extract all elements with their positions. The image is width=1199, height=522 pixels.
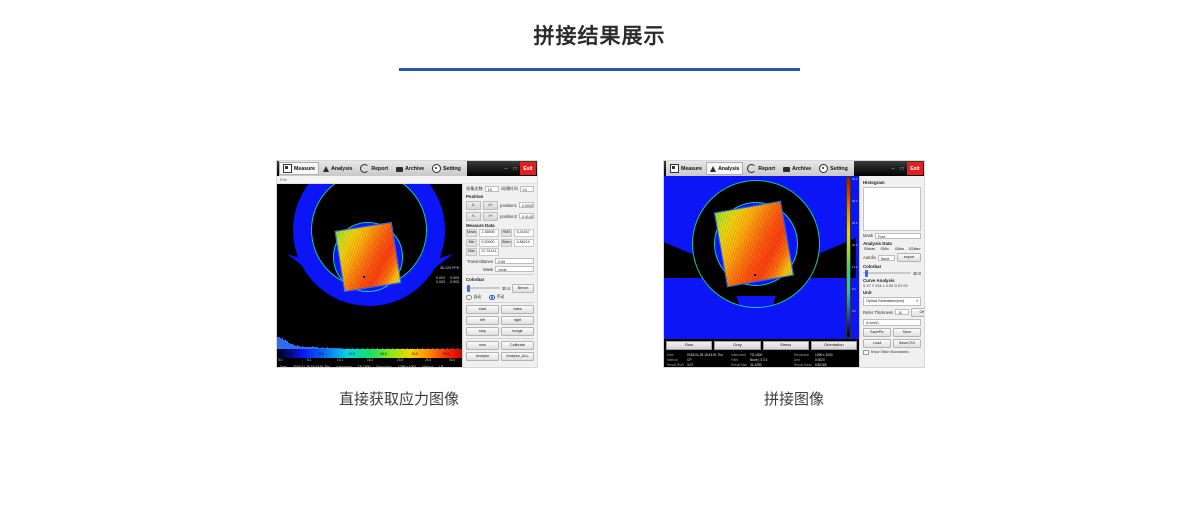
fps-value: 36.129 FPS bbox=[440, 266, 459, 270]
divider-2 bbox=[466, 302, 534, 303]
minimize-button-2[interactable]: – bbox=[889, 163, 897, 175]
cb-tick-0: 0.0 bbox=[289, 352, 294, 356]
action-button-row-1: new Calibrate bbox=[466, 341, 534, 350]
measure-data-section-title: Measure Data bbox=[466, 223, 534, 228]
specimen-marker-2 bbox=[754, 274, 756, 276]
transmittance-row: Transmittance 0.65 bbox=[466, 258, 534, 264]
radio-manual-label: 手动 bbox=[497, 295, 505, 300]
menu-item-analysis-label-2: Analysis bbox=[718, 166, 739, 172]
gear-icon bbox=[819, 164, 828, 173]
close-button-2[interactable]: Exit bbox=[907, 162, 923, 175]
y-minus-button[interactable]: Y- bbox=[466, 212, 481, 221]
colorbar-axis: 0.0 5.1 10.1 15.2 20.3 25.3 30.4 bbox=[277, 358, 462, 363]
menu-item-report[interactable]: Report bbox=[356, 162, 392, 175]
new-button[interactable]: new bbox=[466, 341, 499, 350]
info-k-7: Result Max bbox=[731, 363, 747, 367]
page-heading: 拼接结果展示 bbox=[0, 26, 1199, 47]
status-k-0: Date bbox=[280, 365, 287, 369]
cb-axis-2: 10.1 bbox=[337, 358, 343, 362]
cb-tick-1: 6.0 bbox=[319, 352, 324, 356]
divider-3 bbox=[466, 338, 534, 339]
info-v-2: 1296 x 1000 bbox=[815, 353, 856, 357]
info-v-1: TS-1000 bbox=[750, 353, 791, 357]
unit-select[interactable]: Optical Retardation(nm) bbox=[863, 297, 921, 306]
colorbar-slider[interactable] bbox=[466, 287, 500, 289]
savepic-button[interactable]: SavePic bbox=[863, 328, 891, 337]
fps-readout: 36.129 FPS bbox=[440, 266, 459, 270]
menu-item-archive-2[interactable]: Archive bbox=[779, 162, 815, 175]
savecsv-button[interactable]: SaveCSV bbox=[893, 339, 921, 348]
position1-label: position1 bbox=[500, 203, 517, 208]
position-row-1: X- X+ position1 0.00001 bbox=[466, 201, 534, 210]
page-title: 拼接结果展示 bbox=[0, 26, 1199, 47]
cb-axis-6: 30.4 bbox=[449, 358, 455, 362]
cb-tick-3: 18.0 bbox=[380, 352, 387, 356]
figure-stitched-image: Measure Analysis Report Archive Setting bbox=[663, 160, 925, 368]
position-section-title: Position bbox=[466, 194, 534, 199]
info-v-3: CP bbox=[687, 358, 728, 362]
status-k-3: Method bbox=[422, 365, 433, 369]
coord-r2c2: 0.003 bbox=[450, 280, 459, 284]
radio-auto[interactable]: 自动 bbox=[466, 295, 481, 301]
rms-key: RMS bbox=[501, 229, 512, 237]
y-plus-button[interactable]: Y+ bbox=[483, 212, 498, 221]
menu-item-analysis[interactable]: Analysis bbox=[319, 162, 356, 175]
status-k-2: Resolution bbox=[376, 365, 392, 369]
radio-auto-dot bbox=[466, 295, 472, 301]
control-panel: 采集次数 15 间隔时间 10 Position X- X+ position1… bbox=[462, 184, 537, 368]
info-k-8: Result Mean bbox=[794, 363, 812, 367]
vertical-colorbar: 40.0 33.3 26.6 20.0 13.3 6.6 0.0 bbox=[846, 177, 858, 338]
transmittance-input[interactable]: 0.65 bbox=[495, 258, 534, 264]
menu-item-measure-label-2: Measure bbox=[681, 166, 702, 172]
subbar: Exit bbox=[277, 176, 537, 184]
unit-section-title: Unit bbox=[863, 290, 921, 295]
info-k-3: Method bbox=[667, 358, 684, 362]
menu-item-measure-2[interactable]: Measure bbox=[666, 162, 706, 175]
position1-input[interactable]: 0.00001 bbox=[519, 202, 534, 208]
stitched-image-canvas[interactable]: 40.0 33.3 26.6 20.0 13.3 6.6 0.0 bbox=[664, 176, 859, 339]
autofix-row: Autofix None export bbox=[863, 253, 921, 262]
info-k-1: Instrument bbox=[731, 353, 747, 357]
tag-gstdev: GStdev bbox=[908, 247, 921, 251]
view-tabs: Raw Gray Stress Orientation bbox=[664, 339, 859, 351]
capture-count-label: 采集次数 bbox=[466, 186, 483, 192]
stress-image-canvas[interactable]: 36.129 FPS 0.003 0.003 0.003 0.003 bbox=[277, 184, 462, 337]
status-v-1: TS-1000 bbox=[358, 365, 371, 369]
curve-analysis-section-title: Curve Analysis bbox=[863, 278, 921, 283]
mask-select[interactable]: circle bbox=[495, 266, 534, 272]
viewer-column-2: 40.0 33.3 26.6 20.0 13.3 6.6 0.0 Raw Gra… bbox=[664, 176, 859, 368]
histogram-plot[interactable] bbox=[863, 187, 921, 231]
heading-underline bbox=[399, 68, 800, 71]
folder-icon bbox=[783, 167, 790, 172]
info-v-7: 31.4290 bbox=[750, 363, 791, 367]
colorbar-slider-row-2: 40.0 bbox=[863, 271, 921, 276]
vertical-colorbar-ticks: 40.0 33.3 26.6 20.0 13.3 6.6 0.0 bbox=[851, 177, 858, 338]
radio-manual[interactable]: 手动 bbox=[489, 295, 504, 301]
colorbar-section-title: Colorbar bbox=[466, 277, 534, 282]
menu-item-measure-label: Measure bbox=[294, 166, 315, 172]
colorbar-value-2: 40.0 bbox=[913, 271, 921, 276]
app-window-measure: Measure Analysis Report Archive Setting bbox=[276, 160, 538, 368]
specimen-region bbox=[335, 222, 402, 292]
colorbar-slider-row: 30.4 Bench bbox=[466, 284, 534, 293]
camera-icon bbox=[670, 164, 679, 173]
vbar-tick-2: 26.6 bbox=[852, 221, 857, 225]
refer-thickness-row: Refer Thickness 10 OK bbox=[863, 308, 921, 317]
refer-thickness-input[interactable]: 10 bbox=[895, 309, 909, 315]
menu-item-setting-label: Setting bbox=[443, 166, 461, 172]
checkbox-box bbox=[863, 350, 869, 356]
mask-label-2: Mask bbox=[863, 233, 873, 238]
mode-radio-group: 自动 手动 bbox=[466, 295, 534, 301]
save-path-input[interactable]: d:\res01 bbox=[863, 319, 921, 326]
cb-axis-1: 5.1 bbox=[307, 358, 311, 362]
load-button[interactable]: Load bbox=[863, 339, 891, 348]
histogram-bars bbox=[277, 337, 462, 349]
image-button[interactable]: image bbox=[501, 327, 534, 336]
window-body-2: 40.0 33.3 26.6 20.0 13.3 6.6 0.0 Raw Gra… bbox=[664, 176, 924, 368]
stdev-key: Stdev bbox=[501, 239, 512, 247]
measure-data-grid: Mean 2.36506 RMS 5.41547 Min 0.30000 Std… bbox=[466, 229, 534, 256]
analyse-button[interactable]: Analyse bbox=[466, 352, 499, 361]
status-k-1: Instrument bbox=[336, 365, 352, 369]
moon-icon bbox=[747, 164, 756, 173]
coord-r2c1: 0.003 bbox=[436, 280, 445, 284]
analysis-tags: GMean GMin GMax GStdev bbox=[863, 247, 921, 251]
file-button-row-1: SavePic Save bbox=[863, 328, 921, 337]
colorbar-ticks: 0.0 6.0 12.0 18.0 24.0 30.0 bbox=[277, 349, 462, 358]
analysis-panel: Histogram Mask Free Analysis Data GMean … bbox=[859, 176, 924, 368]
position-row-2: Y- Y+ position2 0.41431 bbox=[466, 212, 534, 221]
export-button[interactable]: export bbox=[897, 253, 921, 262]
colorbar-slider-2[interactable] bbox=[863, 272, 911, 274]
vbar-tick-0: 40.0 bbox=[852, 177, 857, 181]
maximize-button[interactable]: □ bbox=[511, 163, 519, 175]
tab-raw[interactable]: Raw bbox=[666, 341, 712, 350]
stitch-boundaries-label: Show Stitch Boundaries bbox=[871, 350, 909, 354]
stdev-value: 4.88219 bbox=[514, 239, 534, 247]
x-plus-button[interactable]: X+ bbox=[483, 201, 498, 210]
mean-value: 2.36506 bbox=[479, 229, 499, 237]
status-line: Date 2018-01-25 16:43:51 Thu Instrument … bbox=[277, 363, 462, 368]
caption-left: 直接获取应力图像 bbox=[268, 388, 530, 409]
menu-item-measure[interactable]: Measure bbox=[279, 162, 319, 175]
colorbar-slider-knob-2[interactable] bbox=[865, 270, 868, 277]
viewer-column: 36.129 FPS 0.003 0.003 0.003 0.003 bbox=[277, 184, 462, 368]
autofix-label: Autofix bbox=[863, 255, 876, 260]
figure-direct-stress-image: Measure Analysis Report Archive Setting bbox=[276, 160, 538, 368]
menu-item-analysis-2[interactable]: Analysis bbox=[706, 162, 743, 175]
coord-readout: 0.003 0.003 0.003 0.003 bbox=[436, 276, 459, 284]
divider-1 bbox=[466, 274, 534, 275]
autofix-select[interactable]: None bbox=[878, 255, 895, 261]
interval-input[interactable]: 10 bbox=[520, 186, 534, 192]
window-controls: – □ Exit bbox=[502, 162, 537, 175]
caption-right: 拼接图像 bbox=[663, 388, 925, 409]
triangle-icon bbox=[323, 166, 329, 172]
analyse-all-button[interactable]: Analyse_ALL bbox=[501, 352, 534, 361]
info-v-6: 3.07 bbox=[687, 363, 728, 367]
menu-item-archive[interactable]: Archive bbox=[392, 162, 428, 175]
radio-manual-dot bbox=[489, 295, 495, 301]
tab-orientation[interactable]: Orientation bbox=[811, 341, 857, 350]
menu-strip-2: Measure Analysis Report Archive Setting bbox=[666, 161, 854, 176]
mask-label: Mask bbox=[466, 267, 493, 272]
close-button[interactable]: Exit bbox=[520, 162, 536, 175]
tag-gmin: GMin bbox=[878, 247, 891, 251]
triangle-icon bbox=[710, 166, 716, 172]
status-v-3: LP bbox=[439, 365, 443, 369]
info-v-0: 2018-01-25 16:43:51 Thu bbox=[687, 353, 728, 357]
info-k-6: Result RMS bbox=[667, 363, 684, 367]
cb-axis-5: 25.3 bbox=[425, 358, 431, 362]
capture-count-row: 采集次数 15 间隔时间 10 bbox=[466, 186, 534, 192]
stop-button[interactable]: stop bbox=[466, 327, 499, 336]
titlebar-2: Measure Analysis Report Archive Setting bbox=[664, 161, 924, 176]
vbar-tick-6: 0.0 bbox=[852, 309, 856, 313]
mask-row: Mask circle bbox=[466, 266, 534, 272]
radio-auto-label: 自动 bbox=[474, 295, 482, 300]
min-value: 0.30000 bbox=[479, 239, 499, 247]
max-value: 37.31414 bbox=[479, 248, 499, 256]
vbar-tick-3: 20.0 bbox=[852, 243, 857, 247]
grid-button-row-2: left right bbox=[466, 316, 534, 325]
cb-tick-4: 24.0 bbox=[411, 352, 418, 356]
cb-tick-2: 12.0 bbox=[349, 352, 356, 356]
min-key: Min bbox=[466, 239, 477, 247]
info-k-0: Date bbox=[667, 353, 684, 357]
status-v-0: 2018-01-25 16:43:51 Thu bbox=[293, 365, 330, 369]
info-v-5: 0.0023 bbox=[815, 358, 856, 362]
interval-label: 间隔时间 bbox=[501, 186, 518, 192]
tag-gmax: GMax bbox=[893, 247, 906, 251]
mask-row-2: Mask Free bbox=[863, 233, 921, 239]
rms-value: 5.41547 bbox=[514, 229, 534, 237]
x-minus-button[interactable]: X- bbox=[466, 201, 481, 210]
minimize-button[interactable]: – bbox=[502, 163, 510, 175]
window-body: 36.129 FPS 0.003 0.003 0.003 0.003 bbox=[277, 184, 537, 368]
ok-button[interactable]: OK bbox=[911, 308, 924, 317]
transmittance-label: Transmittance bbox=[466, 259, 493, 264]
gear-icon bbox=[432, 164, 441, 173]
folder-icon bbox=[396, 167, 403, 172]
curve-analysis-values: X 47 Y 334 L 0.00 D 67.00 bbox=[863, 284, 921, 288]
tag-gmean: GMean bbox=[863, 247, 876, 251]
info-k-2: Resolution bbox=[794, 353, 812, 357]
video-button[interactable]: video bbox=[501, 305, 534, 314]
tab-stress[interactable]: Stress bbox=[763, 341, 809, 350]
analysis-data-section-title: Analysis Data bbox=[863, 241, 921, 246]
grid-button-row-1: start video bbox=[466, 305, 534, 314]
bench-button[interactable]: Bench bbox=[512, 284, 534, 293]
vbar-tick-4: 13.3 bbox=[852, 265, 857, 269]
menu-item-setting-2[interactable]: Setting bbox=[815, 162, 852, 175]
specimen-marker bbox=[363, 276, 365, 278]
app-window-analysis: Measure Analysis Report Archive Setting bbox=[663, 160, 925, 368]
colorbar-strip: 0.0 6.0 12.0 18.0 24.0 30.0 bbox=[277, 349, 462, 358]
menu-item-report-2[interactable]: Report bbox=[743, 162, 779, 175]
left-button[interactable]: left bbox=[466, 316, 499, 325]
moon-icon bbox=[360, 164, 369, 173]
cb-axis-0: 0.0 bbox=[278, 358, 282, 362]
menu-item-report-label: Report bbox=[371, 166, 388, 172]
menu-item-setting[interactable]: Setting bbox=[428, 162, 465, 175]
info-v-4: None | 3 3 3 bbox=[750, 358, 791, 362]
menu-item-analysis-label: Analysis bbox=[331, 166, 352, 172]
mean-key: Mean bbox=[466, 229, 477, 237]
refer-thickness-label: Refer Thickness bbox=[863, 310, 893, 315]
window-controls-2: – □ Exit bbox=[889, 162, 924, 175]
colorbar-slider-knob[interactable] bbox=[467, 285, 470, 292]
position2-input[interactable]: 0.41431 bbox=[519, 213, 534, 219]
grid-button-row-3: stop image bbox=[466, 327, 534, 336]
vbar-tick-1: 33.3 bbox=[852, 199, 857, 203]
cb-axis-4: 20.3 bbox=[397, 358, 403, 362]
cb-tick-5: 30.0 bbox=[443, 352, 450, 356]
unit-select-value: Optical Retardation(nm) bbox=[866, 298, 904, 304]
vbar-tick-5: 6.6 bbox=[852, 287, 856, 291]
start-button[interactable]: start bbox=[466, 305, 499, 314]
colorbar-section-title-2: Colorbar bbox=[863, 264, 921, 269]
info-k-4: Filter bbox=[731, 358, 747, 362]
info-v-8: 5.82185 bbox=[815, 363, 856, 367]
file-button-row-2: Load SaveCSV bbox=[863, 339, 921, 348]
camera-icon bbox=[283, 164, 292, 173]
mask-select-2[interactable]: Free bbox=[875, 233, 921, 239]
histogram-section-title: Histogram bbox=[863, 180, 921, 185]
status-v-2: 1296 x 1000 bbox=[398, 365, 416, 369]
titlebar: Measure Analysis Report Archive Setting bbox=[277, 161, 537, 176]
info-k-5: Unit bbox=[794, 358, 812, 362]
histogram-strip bbox=[277, 337, 462, 349]
menu-strip: Measure Analysis Report Archive Setting bbox=[279, 161, 467, 176]
menu-item-setting-label-2: Setting bbox=[830, 166, 848, 172]
max-key: Max bbox=[466, 248, 477, 256]
maximize-button-2[interactable]: □ bbox=[898, 163, 906, 175]
tab-gray[interactable]: Gray bbox=[714, 341, 760, 350]
menu-item-report-label-2: Report bbox=[758, 166, 775, 172]
menu-item-archive-label: Archive bbox=[405, 166, 424, 172]
calibrate-button[interactable]: Calibrate bbox=[501, 341, 534, 350]
action-button-row-2: Analyse Analyse_ALL bbox=[466, 352, 534, 361]
measurement-info-grid: Date 2018-01-25 16:43:51 Thu Instrument … bbox=[664, 351, 859, 368]
menu-item-archive-label-2: Archive bbox=[792, 166, 811, 172]
colorbar-value: 30.4 bbox=[502, 286, 510, 291]
right-button[interactable]: right bbox=[501, 316, 534, 325]
capture-count-input[interactable]: 15 bbox=[485, 186, 499, 192]
save-button[interactable]: Save bbox=[893, 328, 921, 337]
stitch-boundaries-checkbox[interactable]: Show Stitch Boundaries bbox=[863, 350, 921, 356]
position2-label: position2 bbox=[500, 214, 517, 219]
cb-axis-3: 15.2 bbox=[367, 358, 373, 362]
